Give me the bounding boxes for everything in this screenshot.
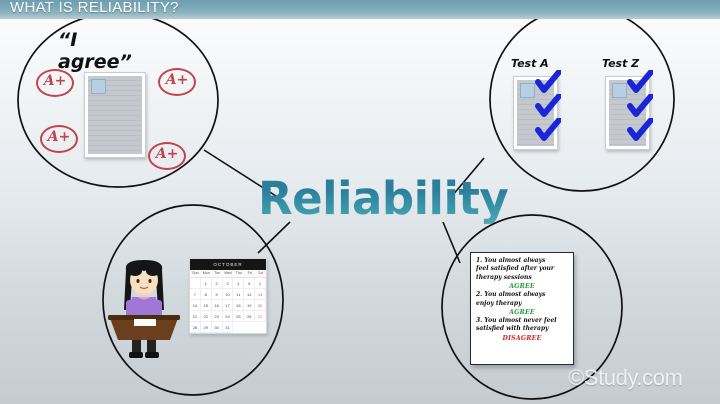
paper-chip xyxy=(520,83,535,98)
survey-question-3: 3. You almost never feel satisfied with … xyxy=(476,317,568,343)
calendar-cell[interactable]: 22 xyxy=(201,311,212,322)
survey-question-2: 2. You almost always enjoy therapy AGREE xyxy=(476,291,568,317)
page-title: WHAT IS RELIABILITY? xyxy=(10,0,179,16)
calendar-cell[interactable]: 3 xyxy=(223,278,234,289)
calendar-dow: Fri xyxy=(244,270,255,277)
test-z-label: Test Z xyxy=(602,57,639,70)
calendar-cell[interactable]: 10 xyxy=(223,289,234,300)
answer-value: AGREE xyxy=(476,308,568,317)
checkmark-icon xyxy=(627,70,653,94)
calendar-cell[interactable]: 19 xyxy=(244,300,255,311)
question-line: 1. You almost always xyxy=(476,257,568,265)
calendar-cell[interactable]: 29 xyxy=(201,322,212,333)
calendar-cell[interactable]: 1 xyxy=(201,278,212,289)
calendar-cell[interactable]: 8 xyxy=(201,289,212,300)
calendar-cell[interactable]: 17 xyxy=(223,300,234,311)
question-line: feel satisfied after your xyxy=(476,265,568,273)
calendar-cell-empty: . xyxy=(190,278,201,289)
calendar-cell[interactable]: 13 xyxy=(255,289,266,300)
calendar-cell[interactable]: 15 xyxy=(201,300,212,311)
paper-chip xyxy=(612,83,627,98)
calendar-cell[interactable]: 30 xyxy=(212,322,223,333)
calendar-dow: Mon xyxy=(201,270,212,277)
checkmark-icon xyxy=(627,118,653,142)
calendar-cell[interactable]: 14 xyxy=(190,300,201,311)
calendar-cell[interactable]: 7 xyxy=(190,289,201,300)
calendar-dow: Tue xyxy=(212,270,223,277)
calendar-dow: Wed xyxy=(223,270,234,277)
calendar-cell[interactable]: 27 xyxy=(255,311,266,322)
survey-card: 1. You almost always feel satisfied afte… xyxy=(470,252,574,365)
calendar-cell[interactable]: 12 xyxy=(244,289,255,300)
calendar-cell[interactable]: 11 xyxy=(233,289,244,300)
question-line: satisfied with therapy xyxy=(476,325,568,333)
calendar-cell[interactable]: 5 xyxy=(244,278,255,289)
grade-mark-top-left: A+ xyxy=(36,69,74,97)
calendar-widget: OCTOBER SunMonTueWedThuFriSat .123456789… xyxy=(189,258,267,334)
calendar-cell[interactable]: 18 xyxy=(233,300,244,311)
grade-mark-top-right: A+ xyxy=(158,68,196,96)
grade-mark-bottom-right: A+ xyxy=(148,142,186,170)
calendar-dow: Sat xyxy=(255,270,266,277)
title-bar: WHAT IS RELIABILITY? xyxy=(0,0,720,19)
calendar-cell[interactable]: 28 xyxy=(190,322,201,333)
checkmark-icon xyxy=(627,94,653,118)
graded-paper xyxy=(84,72,146,158)
calendar-cell[interactable]: 23 xyxy=(212,311,223,322)
answer-value: DISAGREE xyxy=(476,334,568,343)
survey-question-1: 1. You almost always feel satisfied afte… xyxy=(476,257,568,291)
calendar-dow: Thu xyxy=(233,270,244,277)
study-com-watermark: ©Study.com xyxy=(568,365,683,391)
question-line: 2. You almost always xyxy=(476,291,568,299)
calendar-day-grid: .123456789101112131415161718192021222324… xyxy=(190,278,266,333)
slide-canvas: WHAT IS RELIABILITY? Reliability “I agre… xyxy=(0,0,720,404)
calendar-month-label: OCTOBER xyxy=(190,259,266,270)
calendar-cell[interactable]: 6 xyxy=(255,278,266,289)
question-line: enjoy therapy xyxy=(476,300,568,308)
paper-lines xyxy=(88,76,142,154)
grade-mark-bottom-left: A+ xyxy=(40,125,78,153)
calendar-dow: Sun xyxy=(190,270,201,277)
test-a-label: Test A xyxy=(511,57,549,70)
calendar-cell[interactable]: 2 xyxy=(212,278,223,289)
calendar-day-headers: SunMonTueWedThuFriSat xyxy=(190,270,266,278)
quote-text: “I agree” xyxy=(58,29,132,73)
calendar-cell[interactable]: 25 xyxy=(233,311,244,322)
calendar-cell[interactable]: 4 xyxy=(233,278,244,289)
checkmark-icon xyxy=(535,94,561,118)
student-figure-icon xyxy=(108,252,180,360)
question-line: therapy sessions xyxy=(476,274,568,282)
calendar-cell[interactable]: 20 xyxy=(255,300,266,311)
calendar-cell[interactable]: 16 xyxy=(212,300,223,311)
checkmark-icon xyxy=(535,70,561,94)
calendar-cell[interactable]: 26 xyxy=(244,311,255,322)
answer-value: AGREE xyxy=(476,282,568,291)
calendar-cell[interactable]: 9 xyxy=(212,289,223,300)
calendar-cell[interactable]: 24 xyxy=(223,311,234,322)
calendar-cell[interactable]: 21 xyxy=(190,311,201,322)
checkmark-icon xyxy=(535,118,561,142)
calendar-cell[interactable]: 31 xyxy=(223,322,234,333)
paper-chip xyxy=(91,79,106,94)
question-line: 3. You almost never feel xyxy=(476,317,568,325)
center-label: Reliability xyxy=(258,172,508,225)
